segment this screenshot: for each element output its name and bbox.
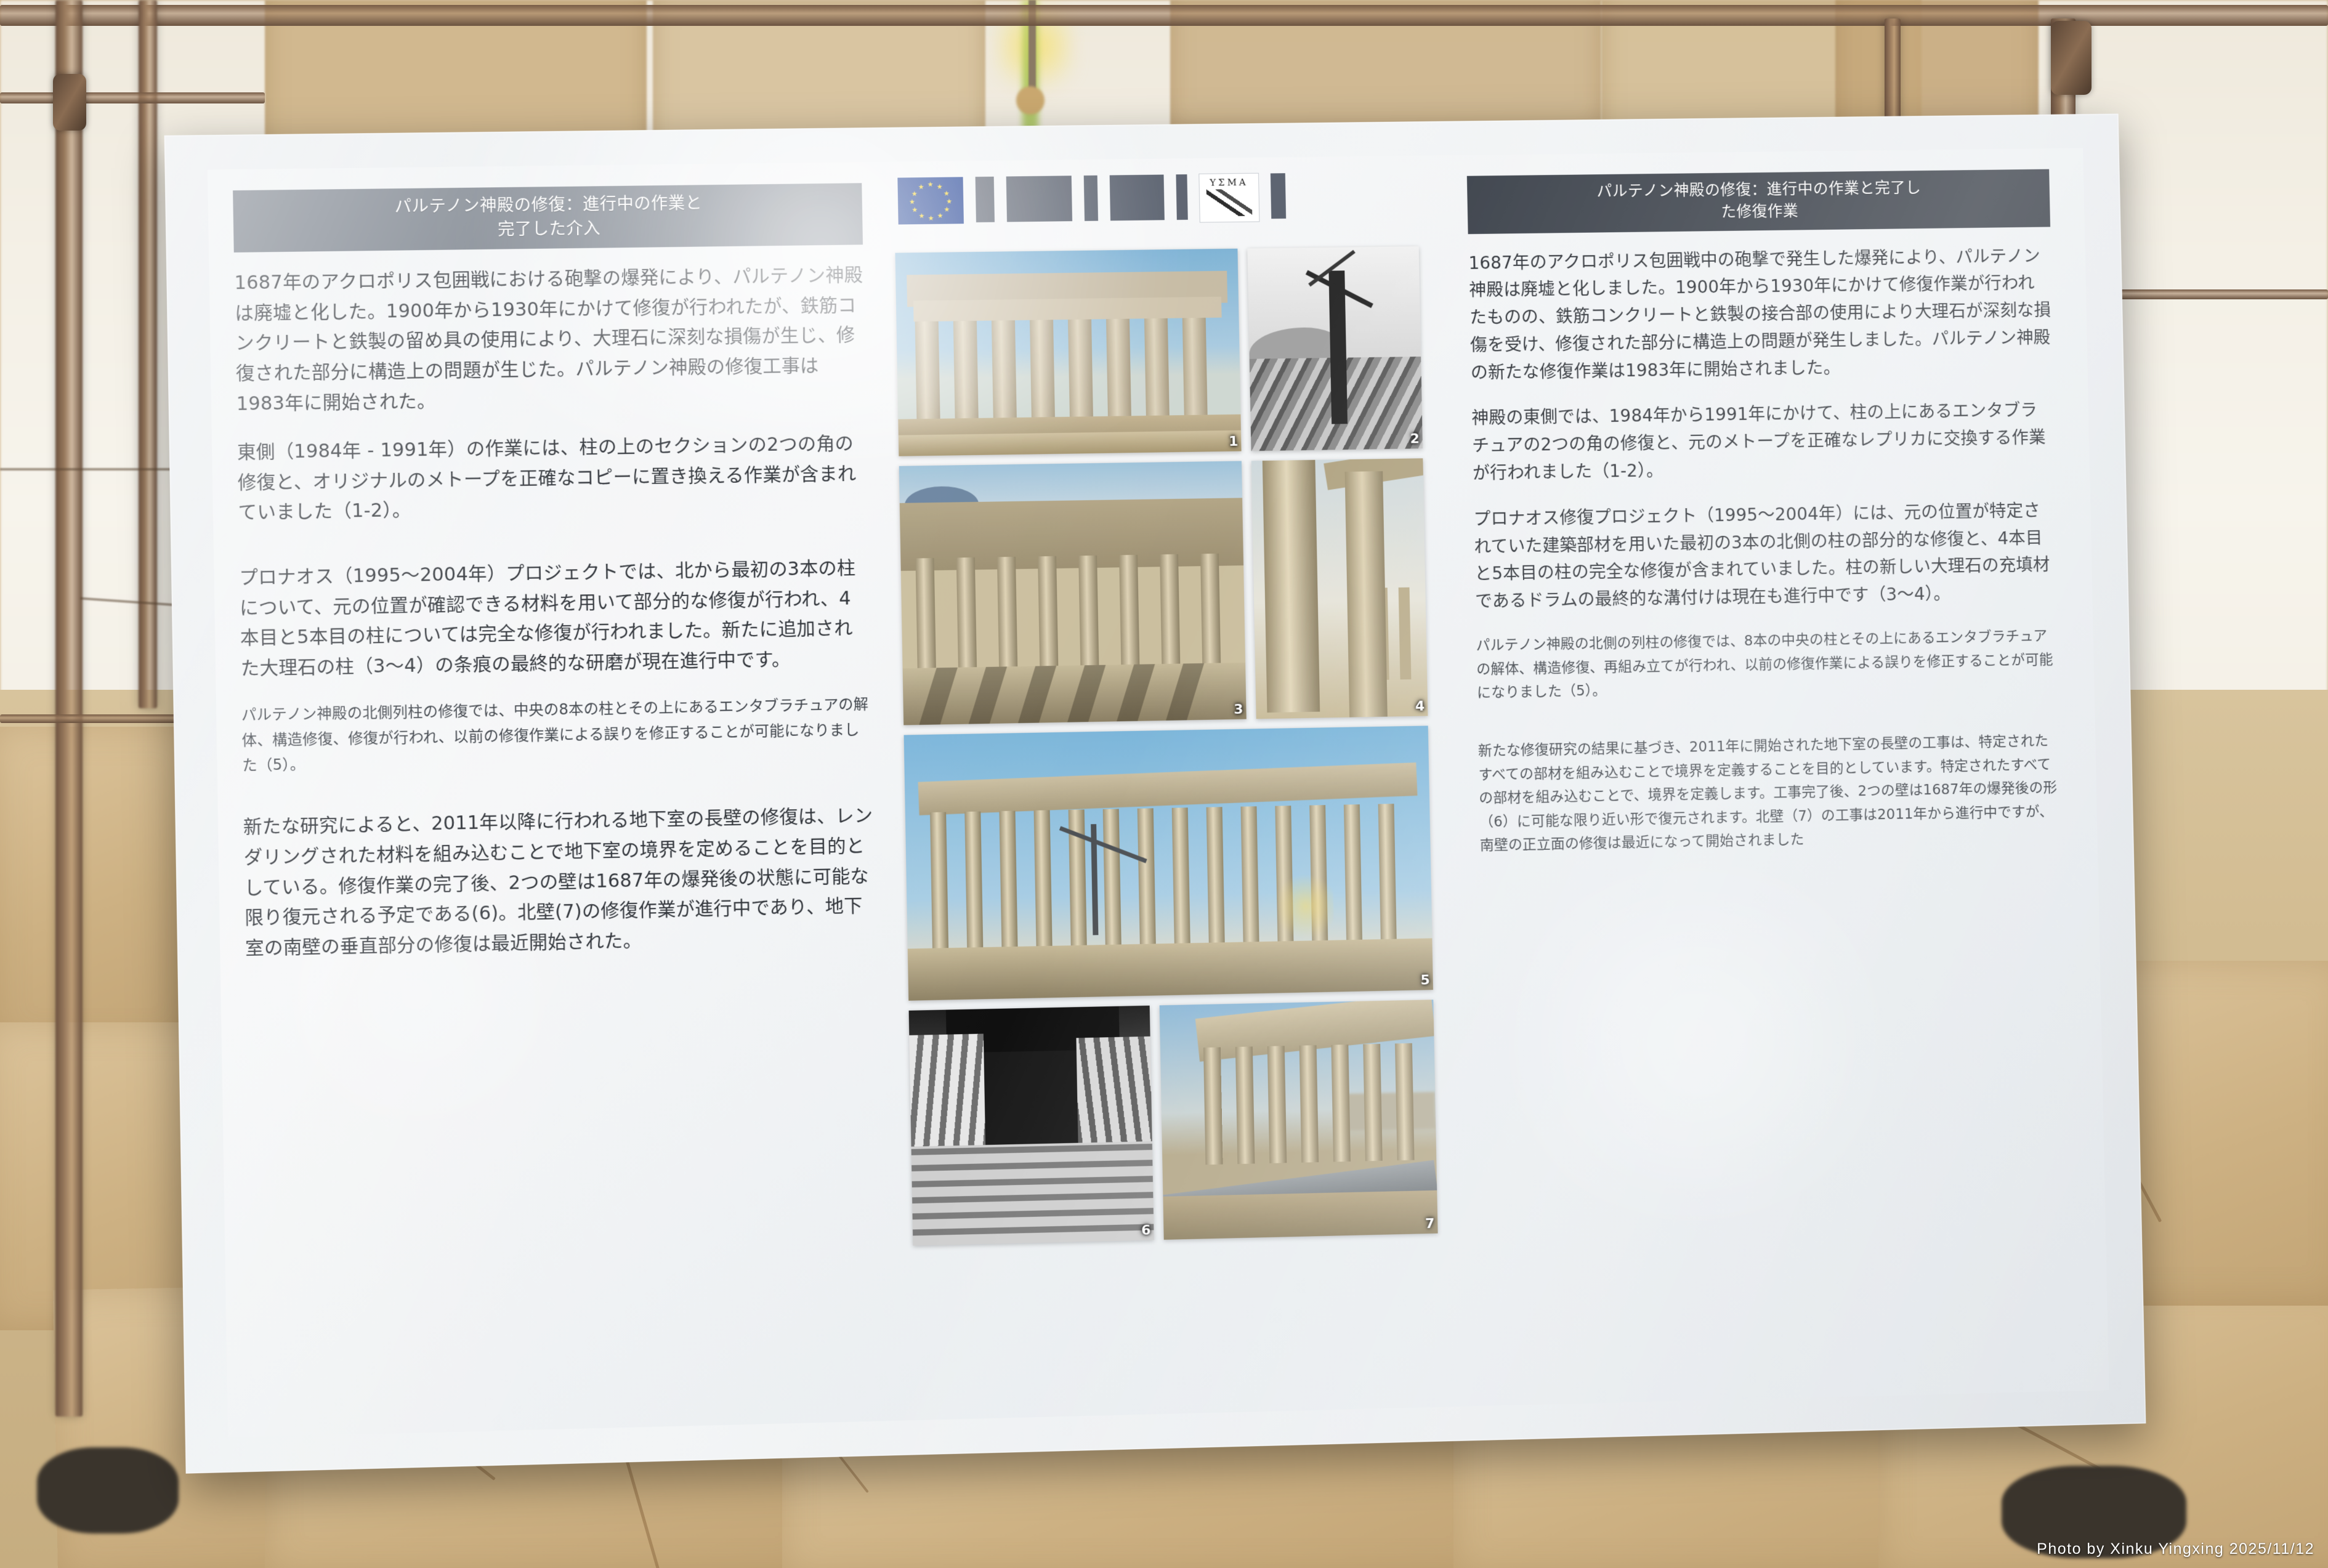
photo-colonnade-wide: 3 (899, 461, 1247, 725)
left-header-line2: 完了した介入 (249, 214, 846, 245)
scaffold-rail-left-2 (0, 714, 203, 723)
photo-north-colonnade-scaffold: 7 (1160, 1000, 1438, 1240)
ysma-logo-icon: ΥΣΜΑ (1199, 174, 1259, 222)
scaffold-rail-top (0, 5, 2328, 26)
center-media-column: ★ ★ ★ ★ ★ ★ ★ ★ ★ ★ ★ ★ (886, 155, 1466, 1420)
photo-row-3: 5 (904, 725, 1451, 1001)
photo-number: 2 (1410, 431, 1420, 447)
ysma-logo-text: ΥΣΜΑ (1210, 177, 1248, 188)
right-column-header: パルテノン神殿の修復：進行中の作業と完了し た修復作業 (1467, 169, 2050, 234)
right-text-column: パルテノン神殿の修復：進行中の作業と完了し た修復作業 1687年のアクロポリス… (1442, 148, 2099, 1407)
photo-row-4: 6 7 (909, 1000, 1456, 1246)
ysma-logo-graphic (1206, 189, 1253, 217)
right-paragraph-5: 新たな修復研究の結果に基づき、2011年に開始された地下室の長壁の工事は、特定さ… (1478, 729, 2064, 858)
left-column-header: パルテノン神殿の修復：進行中の作業と 完了した介入 (233, 183, 863, 253)
photo-number: 1 (1229, 434, 1239, 450)
scaffold-base-foot (37, 1447, 179, 1534)
scaffold-rail-left (0, 92, 265, 103)
information-sign-board: パルテノン神殿の修復：進行中の作業と 完了した介入 1687年のアクロポリス包囲… (185, 123, 2143, 1447)
photo-number: 7 (1425, 1216, 1435, 1232)
photo-watermark: Photo by Xinku Yingxing 2025/11/12 (2037, 1540, 2314, 1558)
photo-historic-crane-bw: 2 (1247, 246, 1423, 451)
left-paragraph-2: 東側（1984年 - 1991年）の作業には、柱の上のセクションの2つの角の修復… (237, 429, 868, 529)
left-column-body: 1687年のアクロポリス包囲戦における砲撃の爆発により、パルテノン神殿は廃墟と化… (234, 261, 875, 964)
scaffold-clamp-2 (53, 74, 86, 131)
photo-number: 3 (1234, 702, 1243, 717)
photograph-scene: パルテノン神殿の修復：進行中の作業と 完了した介入 1687年のアクロポリス包囲… (0, 0, 2328, 1568)
stone-block (0, 727, 197, 1047)
crane-hook-ball (1016, 86, 1045, 115)
scaffold-clamp (2051, 21, 2092, 95)
left-paragraph-4: パルテノン神殿の北側列柱の修復では、中央の8本の柱とその上にあるエンタブラチュア… (241, 692, 873, 778)
left-text-column: パルテノン神殿の修復：進行中の作業と 完了した介入 1687年のアクロポリス包囲… (208, 162, 909, 1437)
logo-block-3 (1084, 176, 1098, 221)
eu-flag-icon: ★ ★ ★ ★ ★ ★ ★ ★ ★ ★ ★ ★ (897, 177, 964, 224)
right-header-line2: た修復作業 (1483, 198, 2034, 227)
logo-block-2 (1006, 176, 1072, 222)
photo-number: 4 (1415, 699, 1425, 714)
logo-block-1 (976, 177, 995, 222)
logo-block-5 (1176, 174, 1187, 220)
right-paragraph-1: 1687年のアクロポリス包囲戦中の砲撃で発生した爆発により、パルテノン神殿は廃墟… (1468, 243, 2053, 387)
logo-block-4 (1110, 175, 1165, 221)
photo-number: 6 (1141, 1222, 1151, 1238)
right-paragraph-4: パルテノン神殿の北側の列柱の修復では、8本の中央の柱とその上にあるエンタブラチュ… (1476, 624, 2060, 705)
right-paragraph-2: 神殿の東側では、1984年から1991年にかけて、柱の上にあるエンタブラチュアの… (1471, 397, 2056, 487)
photo-number: 5 (1420, 972, 1430, 988)
photo-columns-close: 4 (1251, 458, 1428, 719)
right-paragraph-3: プロナオス修復プロジェクト（1995〜2004年）には、元の位置が特定されていた… (1473, 497, 2058, 616)
right-header-line1: パルテノン神殿の修復：進行中の作業と完了し (1596, 179, 1921, 200)
left-paragraph-1: 1687年のアクロポリス包囲戦における砲撃の爆発により、パルテノン神殿は廃墟と化… (234, 261, 866, 420)
photo-cella-interior-bw: 6 (909, 1006, 1154, 1246)
logo-block-6 (1271, 173, 1286, 219)
photo-row-2: 3 4 (899, 458, 1446, 725)
scaffold-pole-left (55, 0, 83, 1416)
right-column-body: 1687年のアクロポリス包囲戦中の砲撃で発生した爆発により、パルテノン神殿は廃墟… (1468, 243, 2063, 859)
photo-grid: 1 2 (895, 246, 1455, 1246)
photo-row-1: 1 2 (895, 246, 1440, 456)
left-header-line1: パルテノン神殿の修復：進行中の作業と (394, 193, 702, 216)
photo-parthenon-panorama: 5 (904, 725, 1433, 1000)
left-paragraph-3: プロナオス（1995〜2004年）プロジェクトでは、北から最初の3本の柱について… (239, 554, 871, 684)
logo-strip: ★ ★ ★ ★ ★ ★ ★ ★ ★ ★ ★ ★ (894, 171, 1436, 239)
left-paragraph-5: 新たな研究によると、2011年以降に行われる地下室の長壁の修復は、レンダリングさ… (243, 801, 876, 964)
photo-parthenon-east-facade: 1 (895, 249, 1241, 456)
